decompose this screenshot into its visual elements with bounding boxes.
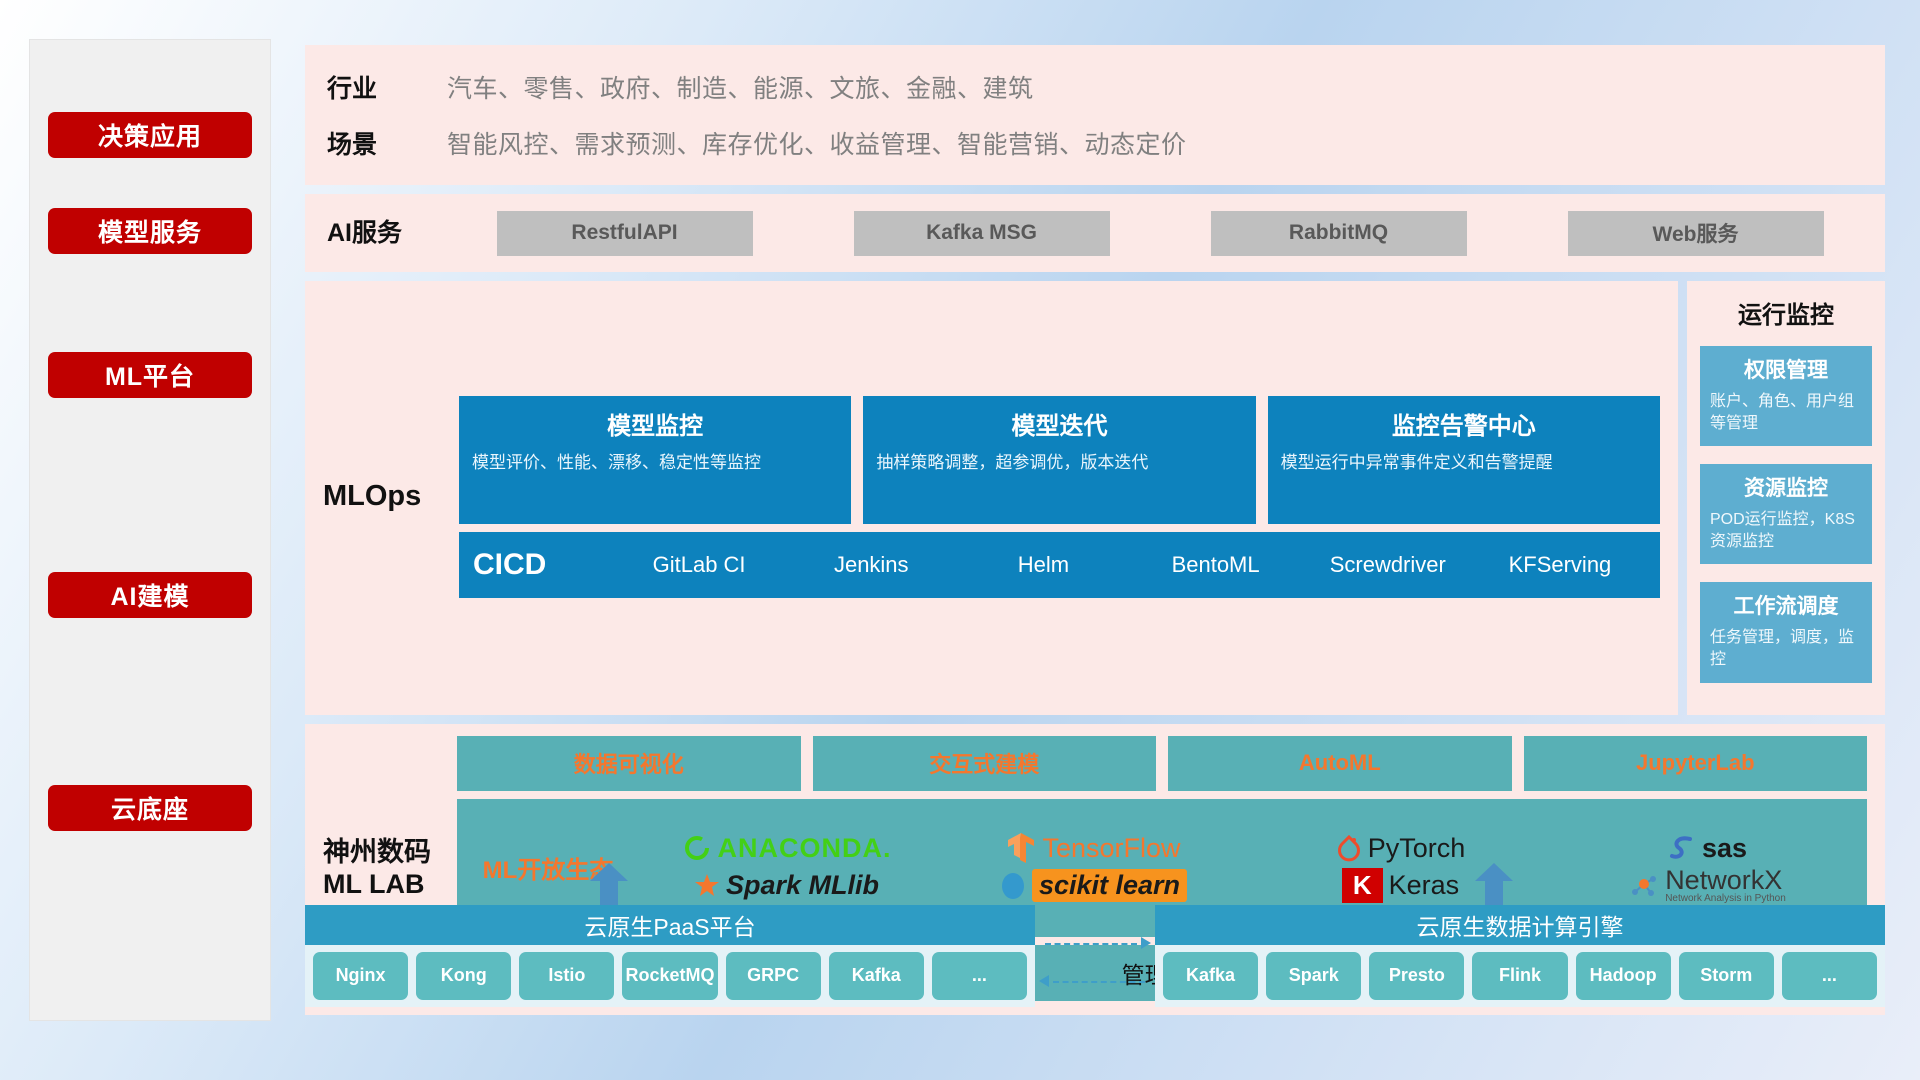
card-desc: 模型运行中异常事件定义和告警提醒: [1281, 451, 1647, 475]
card-desc: POD运行监控，K8S资源监控: [1710, 509, 1862, 552]
layer-chip-label: 模型服务: [98, 213, 202, 249]
cicd-item-helm[interactable]: Helm: [957, 553, 1129, 576]
keras-logo: K Keras: [1342, 868, 1459, 903]
networkx-logo: NetworkX Network Analysis in Python: [1629, 867, 1786, 904]
spark-mllib-wordmark: Spark MLlib: [726, 870, 879, 901]
service-chip-web[interactable]: Web服务: [1568, 211, 1824, 256]
cicd-bar: CICD GitLab CI Jenkins Helm BentoML Scre…: [459, 532, 1660, 598]
card-title: 监控告警中心: [1281, 406, 1647, 441]
ai-service-label: AI服务: [327, 218, 447, 249]
lab-tool-interactive-modeling[interactable]: 交互式建模: [813, 736, 1157, 791]
lab-tool-automl[interactable]: AutoML: [1168, 736, 1512, 791]
paas-chip-istio[interactable]: Istio: [519, 952, 614, 1000]
architecture-stack: 行业 汽车、零售、政府、制造、能源、文旅、金融、建筑 场景 智能风控、需求预测、…: [305, 45, 1885, 1024]
compute-chip-more[interactable]: ...: [1782, 952, 1877, 1000]
cicd-item-kfserving[interactable]: KFServing: [1474, 553, 1646, 576]
industry-values: 汽车、零售、政府、制造、能源、文旅、金融、建筑: [447, 69, 1034, 105]
cicd-item-bentoml[interactable]: BentoML: [1130, 553, 1302, 576]
paas-chip-kong[interactable]: Kong: [416, 952, 511, 1000]
dashed-arrow-right-icon: [1141, 937, 1151, 949]
paas-title: 云原生PaaS平台: [305, 905, 1035, 945]
compute-chip-storm[interactable]: Storm: [1679, 952, 1774, 1000]
cicd-item-gitlab-ci[interactable]: GitLab CI: [613, 553, 785, 576]
dashed-line-right: [1045, 943, 1137, 945]
service-chip-rabbitmq[interactable]: RabbitMQ: [1211, 211, 1467, 256]
cloud-compute-block: 云原生数据计算引擎 Kafka Spark Presto Flink Hadoo…: [1155, 905, 1885, 1007]
layer-chip-decision-application[interactable]: 决策应用: [48, 112, 252, 158]
sas-wordmark: sas: [1702, 833, 1747, 864]
paas-chip-more[interactable]: ...: [932, 952, 1027, 1000]
monitor-card-permission[interactable]: 权限管理 账户、角色、用户组等管理: [1700, 346, 1872, 446]
card-title: 工作流调度: [1710, 590, 1862, 620]
cloud-link-connector: [1035, 905, 1155, 1015]
anaconda-logo: ANACONDA.: [682, 833, 892, 864]
spark-star-icon: [694, 873, 720, 899]
scenario-label: 场景: [327, 125, 413, 161]
networkx-tagline: Network Analysis in Python: [1665, 894, 1786, 904]
mlops-card-alert-center[interactable]: 监控告警中心 模型运行中异常事件定义和告警提醒: [1268, 396, 1660, 524]
cloud-base-section: 云原生PaaS平台 Nginx Kong Istio RocketMQ GRPC…: [305, 905, 1885, 1015]
scikit-learn-logo: scikit learn: [1000, 869, 1187, 902]
dashed-line-left: [1053, 981, 1145, 983]
band-model-service: AI服务 RestfulAPI Kafka MSG RabbitMQ Web服务: [305, 194, 1885, 272]
cloud-paas-block: 云原生PaaS平台 Nginx Kong Istio RocketMQ GRPC…: [305, 905, 1035, 1007]
layer-chip-label: AI建模: [110, 577, 189, 613]
application-row-industry: 行业 汽车、零售、政府、制造、能源、文旅、金融、建筑: [327, 69, 1863, 105]
column-runtime-monitor: 运行监控 权限管理 账户、角色、用户组等管理 资源监控 POD运行监控，K8S资…: [1687, 281, 1885, 715]
scikit-learn-wordmark: scikit learn: [1032, 869, 1187, 902]
pytorch-mark-icon: [1336, 833, 1362, 863]
row-ml-platform: MLOps 模型监控 模型评价、性能、漂移、稳定性等监控 模型迭代 抽样策略调整…: [305, 281, 1885, 715]
paas-chip-kafka[interactable]: Kafka: [829, 952, 924, 1000]
card-desc: 任务管理，调度，监控: [1710, 627, 1862, 670]
card-desc: 模型评价、性能、漂移、稳定性等监控: [472, 451, 838, 475]
compute-chip-spark[interactable]: Spark: [1266, 952, 1361, 1000]
runtime-monitor-title: 运行监控: [1700, 295, 1872, 330]
application-row-scenario: 场景 智能风控、需求预测、库存优化、收益管理、智能营销、动态定价: [327, 125, 1863, 161]
sas-mark-icon: [1668, 833, 1696, 863]
layer-chip-label: 决策应用: [98, 117, 202, 153]
mlops-card-model-monitoring[interactable]: 模型监控 模型评价、性能、漂移、稳定性等监控: [459, 396, 851, 524]
cicd-item-screwdriver[interactable]: Screwdriver: [1302, 553, 1474, 576]
arrow-up-compute: [1475, 863, 1513, 905]
sas-logo: sas: [1668, 833, 1747, 864]
mlops-label: MLOps: [323, 479, 441, 515]
compute-chip-presto[interactable]: Presto: [1369, 952, 1464, 1000]
card-title: 权限管理: [1710, 354, 1862, 384]
lab-tool-data-visualization[interactable]: 数据可视化: [457, 736, 801, 791]
dashed-arrow-left-icon: [1039, 975, 1049, 987]
layer-rail: 决策应用 模型服务 ML平台 AI建模 云底座: [30, 40, 270, 1020]
networkx-wordmark: NetworkX: [1665, 867, 1786, 894]
keras-mark-icon: K: [1342, 868, 1383, 903]
monitor-card-resource[interactable]: 资源监控 POD运行监控，K8S资源监控: [1700, 464, 1872, 564]
scenario-values: 智能风控、需求预测、库存优化、收益管理、智能营销、动态定价: [447, 125, 1187, 161]
cicd-title: CICD: [473, 548, 613, 582]
layer-chip-ml-platform[interactable]: ML平台: [48, 352, 252, 398]
compute-chip-kafka[interactable]: Kafka: [1163, 952, 1258, 1000]
card-title: 模型迭代: [876, 406, 1242, 441]
tensorflow-mark-icon: [1006, 831, 1036, 865]
compute-title: 云原生数据计算引擎: [1155, 905, 1885, 945]
lab-tool-jupyterlab[interactable]: JupyterLab: [1524, 736, 1868, 791]
service-chip-kafka-msg[interactable]: Kafka MSG: [854, 211, 1110, 256]
mlops-card-model-iteration[interactable]: 模型迭代 抽样策略调整，超参调优，版本迭代: [863, 396, 1255, 524]
monitor-card-workflow[interactable]: 工作流调度 任务管理，调度，监控: [1700, 582, 1872, 682]
compute-chip-flink[interactable]: Flink: [1472, 952, 1567, 1000]
card-desc: 账户、角色、用户组等管理: [1710, 391, 1862, 434]
anaconda-mark-icon: [682, 833, 712, 863]
cicd-item-jenkins[interactable]: Jenkins: [785, 553, 957, 576]
anaconda-wordmark: ANACONDA.: [718, 833, 892, 864]
networkx-graph-icon: [1629, 872, 1659, 900]
keras-wordmark: Keras: [1389, 870, 1460, 901]
tensorflow-logo: TensorFlow: [1006, 831, 1180, 865]
card-title: 资源监控: [1710, 472, 1862, 502]
pytorch-wordmark: PyTorch: [1368, 833, 1466, 864]
pytorch-logo: PyTorch: [1336, 833, 1466, 864]
layer-chip-model-service[interactable]: 模型服务: [48, 208, 252, 254]
band-decision-application: 行业 汽车、零售、政府、制造、能源、文旅、金融、建筑 场景 智能风控、需求预测、…: [305, 45, 1885, 185]
card-desc: 抽样策略调整，超参调优，版本迭代: [876, 451, 1242, 475]
paas-chip-grpc[interactable]: GRPC: [726, 952, 821, 1000]
arrow-up-paas: [590, 863, 628, 905]
layer-chip-cloud-base[interactable]: 云底座: [48, 785, 252, 831]
service-chip-restfulapi[interactable]: RestfulAPI: [497, 211, 753, 256]
layer-chip-label: 云底座: [111, 790, 189, 826]
compute-chip-hadoop[interactable]: Hadoop: [1576, 952, 1671, 1000]
tensorflow-wordmark: TensorFlow: [1042, 833, 1180, 864]
spark-mllib-logo: Spark MLlib: [694, 870, 879, 901]
paas-chip-rocketmq[interactable]: RocketMQ: [622, 952, 717, 1000]
ml-lab-label: 神州数码 ML LAB: [323, 836, 441, 901]
card-title: 模型监控: [472, 406, 838, 441]
scikit-blob-icon: [1000, 872, 1026, 900]
layer-chip-ai-modeling[interactable]: AI建模: [48, 572, 252, 618]
industry-label: 行业: [327, 69, 413, 105]
layer-chip-label: ML平台: [105, 357, 195, 393]
band-mlops: MLOps 模型监控 模型评价、性能、漂移、稳定性等监控 模型迭代 抽样策略调整…: [305, 281, 1678, 715]
paas-chip-nginx[interactable]: Nginx: [313, 952, 408, 1000]
